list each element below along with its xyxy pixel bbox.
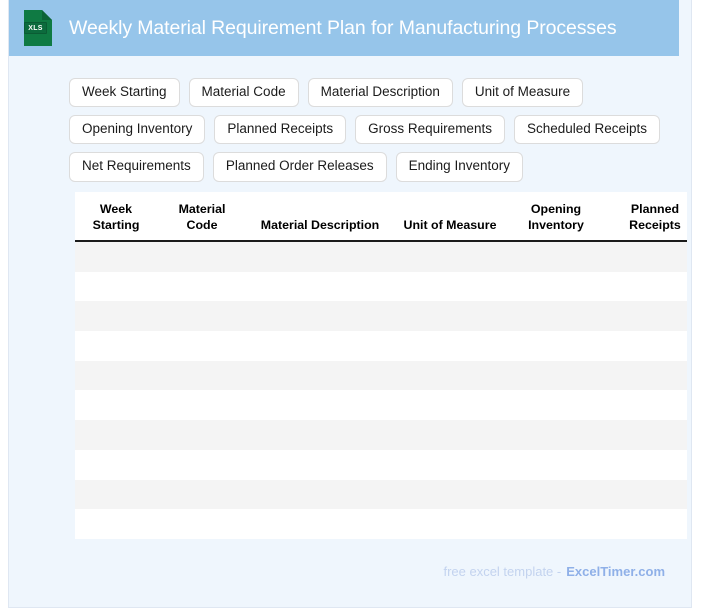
table-cell[interactable] xyxy=(393,480,507,510)
field-chip-gross-requirements[interactable]: Gross Requirements xyxy=(355,115,505,144)
footer-attribution: free excel template -ExcelTimer.com xyxy=(443,564,665,579)
table-cell[interactable] xyxy=(393,331,507,361)
table-cell[interactable] xyxy=(605,272,687,302)
table-cell[interactable] xyxy=(393,361,507,391)
table-cell[interactable] xyxy=(157,241,247,272)
mrp-table-header: Week Starting Material Code Material Des… xyxy=(75,192,687,241)
table-cell[interactable] xyxy=(605,361,687,391)
table-cell[interactable] xyxy=(75,301,157,331)
table-cell[interactable] xyxy=(393,450,507,480)
table-cell[interactable] xyxy=(157,509,247,539)
table-cell[interactable] xyxy=(75,390,157,420)
table-cell[interactable] xyxy=(507,509,605,539)
table-cell[interactable] xyxy=(507,420,605,450)
table-cell[interactable] xyxy=(393,420,507,450)
table-cell[interactable] xyxy=(247,390,393,420)
table-cell[interactable] xyxy=(75,331,157,361)
table-cell[interactable] xyxy=(247,331,393,361)
table-cell[interactable] xyxy=(393,272,507,302)
table-cell[interactable] xyxy=(157,480,247,510)
table-cell[interactable] xyxy=(75,420,157,450)
table-cell[interactable] xyxy=(75,241,157,272)
table-cell[interactable] xyxy=(247,420,393,450)
table-cell[interactable] xyxy=(157,420,247,450)
column-header-material-description[interactable]: Material Description xyxy=(247,192,393,241)
table-row[interactable] xyxy=(75,301,687,331)
table-cell[interactable] xyxy=(393,301,507,331)
table-row[interactable] xyxy=(75,509,687,539)
column-header-opening-inventory[interactable]: Opening Inventory xyxy=(507,192,605,241)
table-cell[interactable] xyxy=(393,390,507,420)
field-chip-planned-order-releases[interactable]: Planned Order Releases xyxy=(213,152,387,181)
table-row[interactable] xyxy=(75,450,687,480)
field-chip-list: Week Starting Material Code Material Des… xyxy=(69,78,669,182)
table-cell[interactable] xyxy=(75,450,157,480)
field-chip-material-description[interactable]: Material Description xyxy=(308,78,453,107)
table-header-row: Week Starting Material Code Material Des… xyxy=(75,192,687,241)
table-row[interactable] xyxy=(75,390,687,420)
table-cell[interactable] xyxy=(247,361,393,391)
table-cell[interactable] xyxy=(507,301,605,331)
table-row[interactable] xyxy=(75,480,687,510)
table-row[interactable] xyxy=(75,241,687,272)
table-cell[interactable] xyxy=(605,450,687,480)
table-cell[interactable] xyxy=(247,301,393,331)
table-cell[interactable] xyxy=(393,509,507,539)
table-cell[interactable] xyxy=(605,241,687,272)
table-cell[interactable] xyxy=(605,509,687,539)
table-row[interactable] xyxy=(75,420,687,450)
table-cell[interactable] xyxy=(507,450,605,480)
table-cell[interactable] xyxy=(247,480,393,510)
table-cell[interactable] xyxy=(507,480,605,510)
table-cell[interactable] xyxy=(157,331,247,361)
table-cell[interactable] xyxy=(157,390,247,420)
table-cell[interactable] xyxy=(605,390,687,420)
table-cell[interactable] xyxy=(75,480,157,510)
field-chip-opening-inventory[interactable]: Opening Inventory xyxy=(69,115,205,144)
table-cell[interactable] xyxy=(247,450,393,480)
table-cell[interactable] xyxy=(75,509,157,539)
table-cell[interactable] xyxy=(75,361,157,391)
table-cell[interactable] xyxy=(605,301,687,331)
table-cell[interactable] xyxy=(605,331,687,361)
footer-lead-text: free excel template - xyxy=(443,564,561,579)
table-cell[interactable] xyxy=(157,450,247,480)
table-cell[interactable] xyxy=(157,361,247,391)
table-cell[interactable] xyxy=(507,361,605,391)
table-cell[interactable] xyxy=(247,272,393,302)
column-header-material-code[interactable]: Material Code xyxy=(157,192,247,241)
xls-icon-label: XLS xyxy=(24,22,47,34)
xls-file-icon: XLS xyxy=(23,9,53,47)
table-row[interactable] xyxy=(75,331,687,361)
field-chip-planned-receipts[interactable]: Planned Receipts xyxy=(214,115,346,144)
table-cell[interactable] xyxy=(157,301,247,331)
table-cell[interactable] xyxy=(507,390,605,420)
table-row[interactable] xyxy=(75,272,687,302)
field-chip-net-requirements[interactable]: Net Requirements xyxy=(69,152,204,181)
field-chip-material-code[interactable]: Material Code xyxy=(189,78,299,107)
table-cell[interactable] xyxy=(507,241,605,272)
field-chip-ending-inventory[interactable]: Ending Inventory xyxy=(396,152,523,181)
document-header-band: XLS Weekly Material Requirement Plan for… xyxy=(9,0,679,56)
field-chip-scheduled-receipts[interactable]: Scheduled Receipts xyxy=(514,115,660,144)
field-chip-unit-of-measure[interactable]: Unit of Measure xyxy=(462,78,583,107)
table-cell[interactable] xyxy=(507,272,605,302)
table-cell[interactable] xyxy=(247,241,393,272)
table-row[interactable] xyxy=(75,361,687,391)
table-cell[interactable] xyxy=(75,272,157,302)
template-page: XLS Weekly Material Requirement Plan for… xyxy=(8,0,692,608)
mrp-table: Week Starting Material Code Material Des… xyxy=(75,192,687,539)
footer-brand-link[interactable]: ExcelTimer.com xyxy=(566,564,665,579)
table-cell[interactable] xyxy=(605,420,687,450)
column-header-planned-receipts[interactable]: Planned Receipts xyxy=(605,192,687,241)
mrp-table-container: Week Starting Material Code Material Des… xyxy=(75,192,687,542)
column-header-unit-of-measure[interactable]: Unit of Measure xyxy=(393,192,507,241)
field-chip-week-starting[interactable]: Week Starting xyxy=(69,78,180,107)
table-cell[interactable] xyxy=(247,509,393,539)
table-cell[interactable] xyxy=(157,272,247,302)
table-cell[interactable] xyxy=(393,241,507,272)
table-cell[interactable] xyxy=(605,480,687,510)
column-header-week-starting[interactable]: Week Starting xyxy=(75,192,157,241)
page-title: Weekly Material Requirement Plan for Man… xyxy=(69,17,616,40)
mrp-table-body xyxy=(75,241,687,539)
table-cell[interactable] xyxy=(507,331,605,361)
